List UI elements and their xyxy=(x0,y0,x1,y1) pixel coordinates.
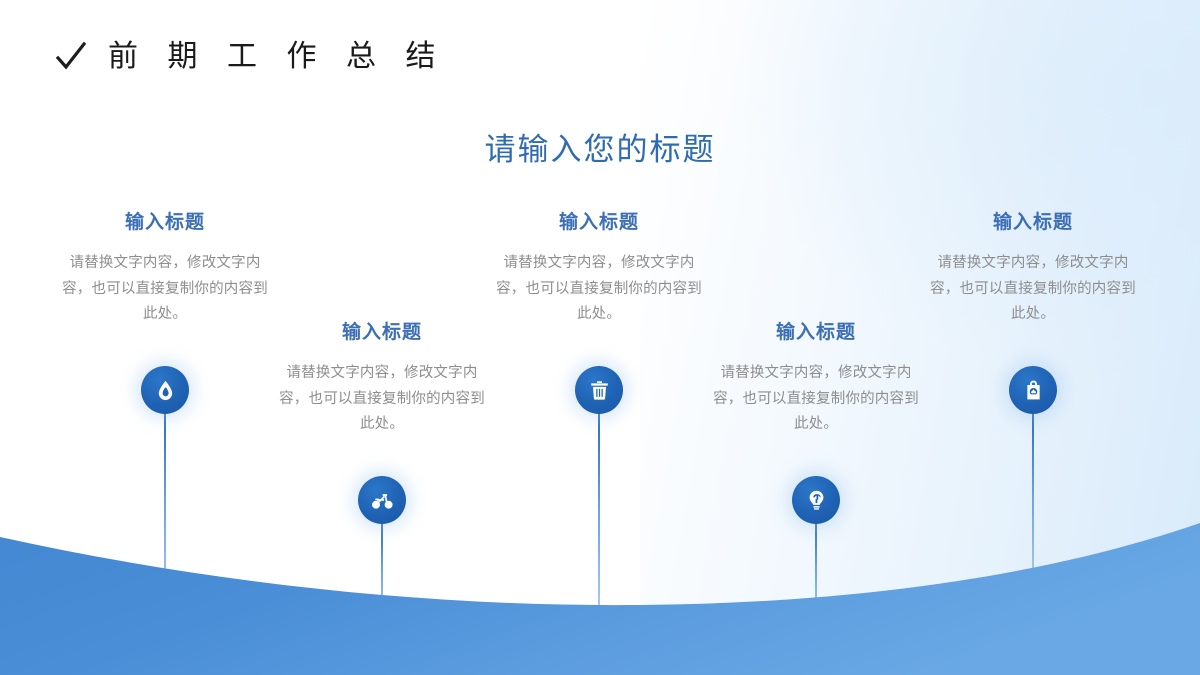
pin-marker-5[interactable] xyxy=(1009,366,1057,414)
page-title: 前 期 工 作 总 结 xyxy=(108,42,447,72)
item-body-2: 请替换文字内容，修改文字内容，也可以直接复制你的内容到此处。 xyxy=(268,361,496,438)
item-body-1: 请替换文字内容，修改文字内容，也可以直接复制你的内容到此处。 xyxy=(51,251,279,328)
bottom-wave-decoration xyxy=(0,495,1200,675)
content-item-1: 输入标题 请替换文字内容，修改文字内容，也可以直接复制你的内容到此处。 xyxy=(51,212,279,328)
item-body-3: 请替换文字内容，修改文字内容，也可以直接复制你的内容到此处。 xyxy=(485,251,713,328)
pin-marker-1[interactable] xyxy=(141,366,189,414)
content-item-3: 输入标题 请替换文字内容，修改文字内容，也可以直接复制你的内容到此处。 xyxy=(485,212,713,328)
content-item-2: 输入标题 请替换文字内容，修改文字内容，也可以直接复制你的内容到此处。 xyxy=(268,322,496,438)
item-title-3: 输入标题 xyxy=(485,212,713,235)
item-title-5: 输入标题 xyxy=(919,212,1147,235)
content-item-4: 输入标题 请替换文字内容，修改文字内容，也可以直接复制你的内容到此处。 xyxy=(702,322,930,438)
item-title-2: 输入标题 xyxy=(268,322,496,345)
item-body-5: 请替换文字内容，修改文字内容，也可以直接复制你的内容到此处。 xyxy=(919,251,1147,328)
slide-header: 前 期 工 作 总 结 xyxy=(56,40,447,74)
main-heading: 请输入您的标题 xyxy=(0,124,1200,169)
eco-shopping-bag-icon[interactable] xyxy=(1009,366,1057,414)
trash-bin-icon[interactable] xyxy=(575,366,623,414)
water-drop-icon[interactable] xyxy=(141,366,189,414)
item-title-4: 输入标题 xyxy=(702,322,930,345)
content-item-5: 输入标题 请替换文字内容，修改文字内容，也可以直接复制你的内容到此处。 xyxy=(919,212,1147,328)
pin-marker-3[interactable] xyxy=(575,366,623,414)
presentation-slide: 前 期 工 作 总 结 请输入您的标题 输入标题 请替换文字内容，修改文字内容，… xyxy=(0,0,1200,675)
item-title-1: 输入标题 xyxy=(51,212,279,235)
item-body-4: 请替换文字内容，修改文字内容，也可以直接复制你的内容到此处。 xyxy=(702,361,930,438)
check-icon xyxy=(56,40,86,74)
